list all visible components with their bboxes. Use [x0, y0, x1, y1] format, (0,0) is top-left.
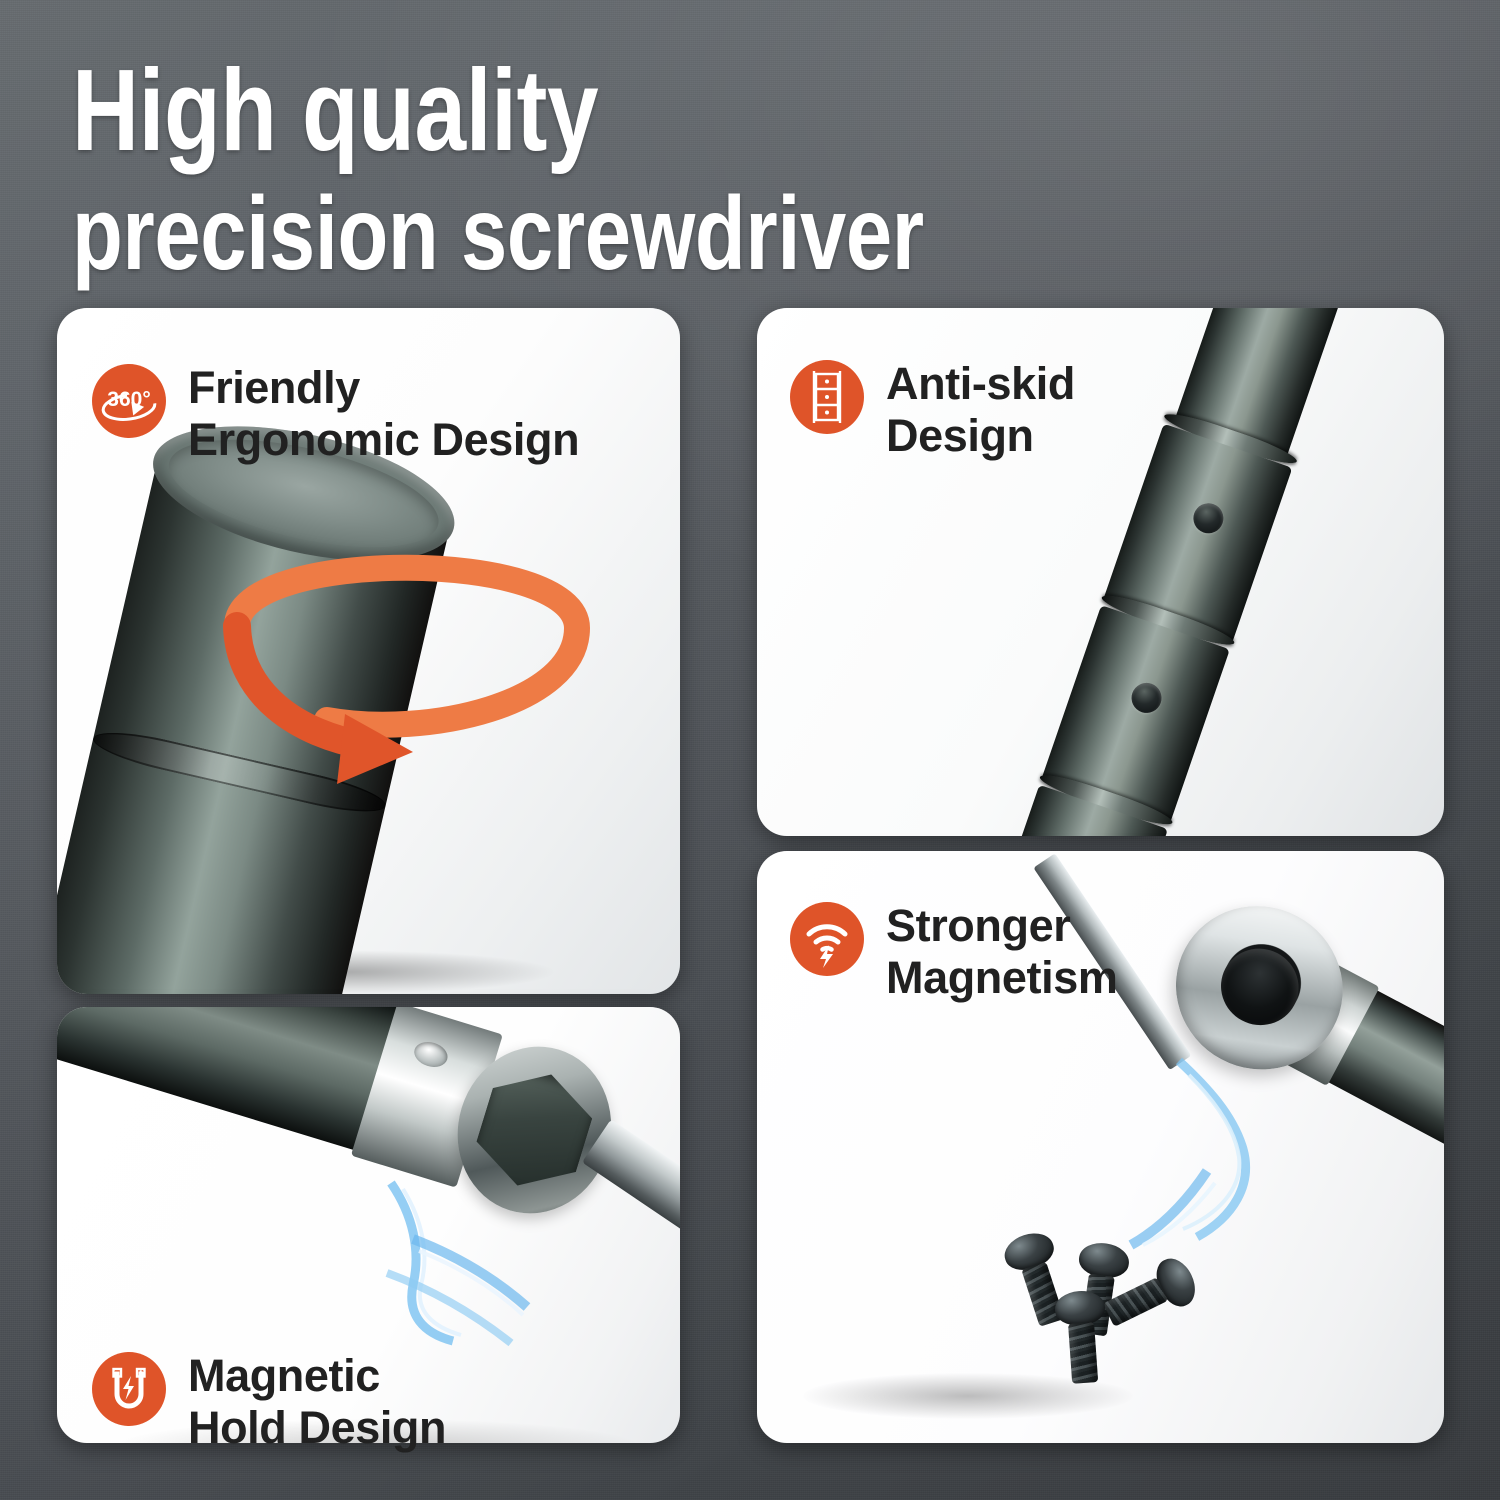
- page-title: High quality precision screwdriver: [72, 52, 1137, 286]
- svg-text:360°: 360°: [107, 388, 150, 411]
- feature-heading-ergonomic: 360° Friendly Ergonomic Design: [92, 360, 579, 466]
- feature-heading-magnetic-hold: Magnetic Hold Design: [92, 1348, 446, 1454]
- magnetism-signal-icon: [790, 902, 864, 976]
- feature-label: Magnetic Hold Design: [188, 1348, 446, 1454]
- feature-heading-magnetism: Stronger Magnetism: [790, 898, 1117, 1004]
- title-line-1: High quality: [72, 52, 924, 168]
- title-line-2: precision screwdriver: [72, 182, 924, 286]
- feature-heading-anti-skid: Anti-skid Design: [790, 356, 1075, 462]
- feature-label: Friendly Ergonomic Design: [188, 360, 579, 466]
- horseshoe-magnet-icon: [92, 1352, 166, 1426]
- feature-label: Anti-skid Design: [886, 356, 1075, 462]
- 360-rotation-icon: 360°: [92, 364, 166, 438]
- anti-skid-shaft-icon: [790, 360, 864, 434]
- feature-label: Stronger Magnetism: [886, 898, 1117, 1004]
- infographic-canvas: High quality precision screwdriver 36: [0, 0, 1500, 1500]
